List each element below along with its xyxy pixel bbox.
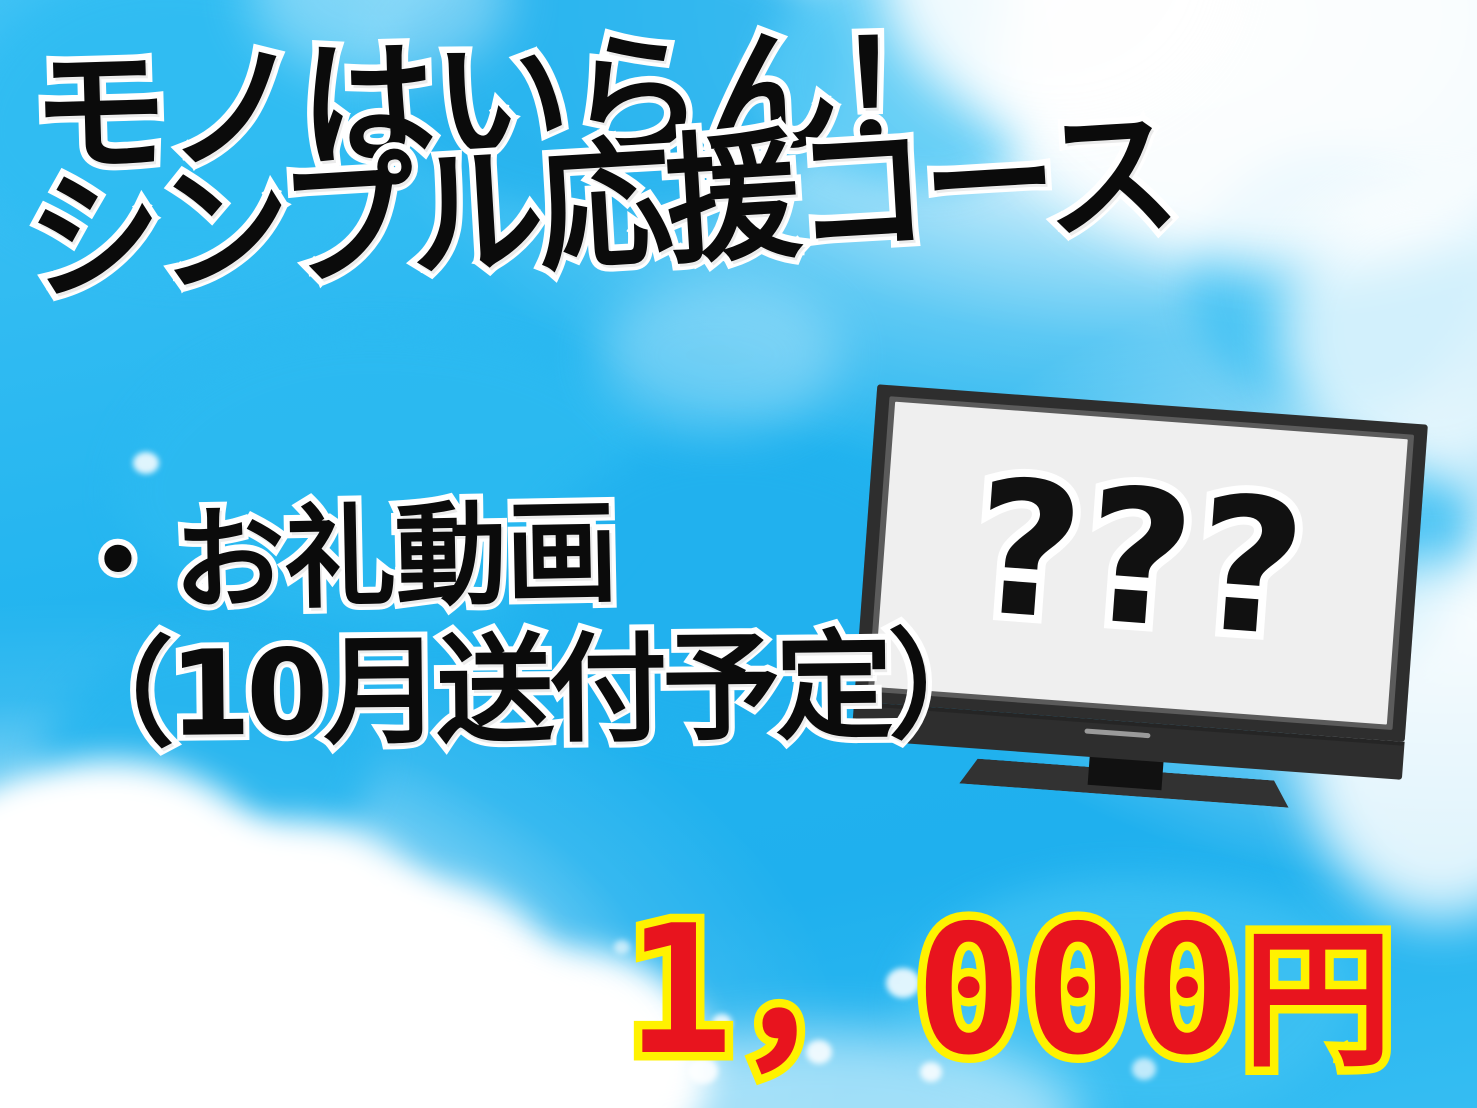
price-amount: 1，000 [626,887,1243,1094]
price-text: 1，000円 [626,902,1393,1080]
bullet-icon: ・ [61,497,174,629]
benefit-schedule-line: （10月送付予定） [55,626,1001,754]
benefit-item-line: ・お礼動画 [61,497,618,620]
price-currency-unit: 円 [1243,914,1393,1088]
benefit-item-label: お礼動画 [172,488,618,626]
television-graphic: ??? [848,384,1428,823]
promo-poster: ??? モノはいらん！ シンプル応援コース ・お礼動画 （10月送付予定） 1，… [0,0,1477,1108]
